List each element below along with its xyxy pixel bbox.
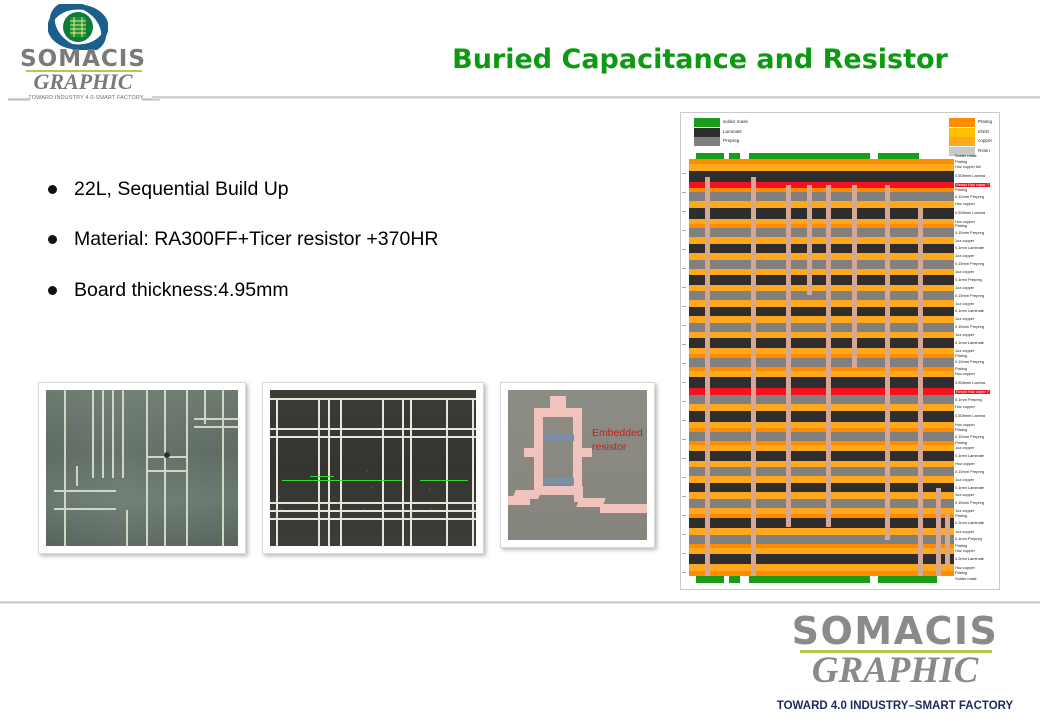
microsection-trace bbox=[402, 398, 404, 546]
ruler-tick bbox=[682, 287, 686, 288]
microsection-trace bbox=[164, 390, 166, 546]
stackup-layer-label: 0.15mm Prepreg bbox=[955, 501, 984, 505]
stackup-layer bbox=[689, 208, 954, 219]
stackup-layer bbox=[689, 244, 954, 253]
microsection-b-canvas: ········· bbox=[270, 390, 476, 546]
stackup-via bbox=[852, 185, 857, 368]
stackup-layer bbox=[689, 445, 954, 451]
stackup-layer-label: Plating bbox=[955, 354, 967, 358]
stackup-layer-label: 1oz copper bbox=[955, 493, 974, 497]
stackup-layer bbox=[689, 411, 954, 422]
microsection-trace bbox=[146, 470, 188, 472]
ruler-tick bbox=[682, 477, 686, 478]
bullet-text: Material: RA300FF+Ticer resistor +370HR bbox=[74, 228, 438, 250]
stackup-layer bbox=[689, 395, 954, 404]
stackup-layer-label: 1oz copper bbox=[955, 317, 974, 321]
stackup-via bbox=[751, 177, 756, 577]
stackup-layer-label: 0.15mm Prepreg bbox=[955, 294, 984, 298]
stackup-layer bbox=[689, 499, 954, 508]
bullet-dot-icon bbox=[48, 185, 57, 194]
footer-tagline: TOWARD 4.0 INDUSTRY–SMART FACTORY bbox=[770, 700, 1020, 712]
microsection-trace bbox=[186, 390, 188, 546]
stackup-layer bbox=[689, 171, 954, 182]
stackup-layer bbox=[689, 554, 954, 564]
measurement-annotation: · bbox=[430, 506, 434, 513]
bullet-text: 22L, Sequential Build Up bbox=[74, 178, 289, 200]
legend-label: solder mask bbox=[723, 120, 748, 125]
stackup-layer bbox=[689, 164, 954, 170]
stackup-layer-label: Hoz copper bbox=[955, 405, 975, 409]
stackup-layer-label: 1oz copper bbox=[955, 286, 974, 290]
microsection-trace bbox=[64, 390, 66, 546]
stackup-layer bbox=[689, 548, 954, 554]
stackup-layer bbox=[749, 576, 870, 583]
stackup-layer bbox=[689, 483, 954, 492]
microsection-via-dot bbox=[164, 452, 170, 458]
stackup-via bbox=[918, 205, 923, 577]
ruler-tick bbox=[682, 211, 686, 212]
stackup-layer-label: Plating bbox=[955, 571, 967, 575]
stackup-layer-label: Solder mask bbox=[955, 154, 977, 158]
measurement-annotation: · bbox=[370, 484, 374, 491]
stackup-ruler bbox=[682, 153, 688, 583]
ruler-tick bbox=[682, 572, 686, 573]
microsection-trace bbox=[446, 398, 448, 546]
stackup-layer-label: 0.1mm Laminate bbox=[955, 486, 984, 490]
stackup-layer-label: 0.1mm Prepreg bbox=[955, 398, 982, 402]
measurement-annotation: · bbox=[278, 494, 282, 501]
measurement-line bbox=[420, 480, 468, 481]
stackup-layer bbox=[689, 192, 954, 201]
measurement-line bbox=[282, 480, 402, 481]
stackup-layer-label: 1oz copper bbox=[955, 270, 974, 274]
stackup-layer bbox=[689, 377, 954, 388]
legend-item: Prepreg bbox=[694, 137, 748, 147]
stackup-layer-label: 1oz copper bbox=[955, 446, 974, 450]
stackup-layer-label: Plating bbox=[955, 428, 967, 432]
microsection-trace bbox=[102, 390, 104, 478]
stackup-layer-label: Hoz copper bbox=[955, 372, 975, 376]
bullet-list: 22L, Sequential Build Up Material: RA300… bbox=[48, 178, 608, 329]
stackup-layer-label: 1oz copper bbox=[955, 302, 974, 306]
legend-item: ENIG bbox=[949, 128, 992, 138]
stackup-layer-label: 0.15mm Prepreg bbox=[955, 262, 984, 266]
stackup-legend-left: solder maskLaminatePrepreg bbox=[694, 118, 748, 147]
stackup-layer bbox=[689, 307, 954, 316]
ruler-tick bbox=[682, 401, 686, 402]
microsection-trace bbox=[340, 398, 342, 546]
legend-label: Plating bbox=[978, 120, 992, 125]
microsection-copper-traces-image bbox=[38, 382, 246, 554]
pcb-stackup-diagram: solder maskLaminatePrepreg PlatingENIGco… bbox=[680, 112, 1000, 590]
stackup-layer bbox=[689, 260, 954, 269]
footer-brand-somacis: SOMACIS bbox=[770, 612, 1020, 650]
stackup-layer bbox=[689, 285, 954, 291]
stackup-layer-label: 1oz copper bbox=[955, 478, 974, 482]
logo-brand-somacis: SOMACIS bbox=[8, 48, 158, 71]
stackup-layer-label: 0.15mm Prepreg bbox=[955, 325, 984, 329]
stackup-layer-label: 0.15mm Prepreg bbox=[955, 231, 984, 235]
stackup-layer bbox=[689, 371, 954, 377]
stackup-layer-label: 0.1mm Laminate bbox=[955, 341, 984, 345]
ruler-tick bbox=[682, 363, 686, 364]
stackup-layer bbox=[689, 404, 954, 410]
stackup-layer bbox=[689, 291, 954, 300]
ruler-tick bbox=[682, 173, 686, 174]
microsection-trace bbox=[122, 390, 124, 478]
legend-swatch bbox=[694, 137, 720, 146]
stackup-layer-label: 0.15mm Prepreg bbox=[955, 360, 984, 364]
microsection-trace bbox=[194, 426, 238, 428]
stackup-layer-label: Plating bbox=[955, 188, 967, 192]
stackup-layer-label: Hoz copper bbox=[955, 566, 975, 570]
stackup-layer bbox=[689, 535, 954, 544]
logo-tagline: TOWARD INDUSTRY 4.0-SMART FACTORY bbox=[22, 95, 150, 101]
stackup-layer-label: 0.1mm Laminate bbox=[955, 454, 984, 458]
stackup-via bbox=[786, 185, 791, 527]
stackup-layer-label: 0.508mm Lamina bbox=[955, 381, 985, 385]
measurement-annotation: · bbox=[362, 506, 366, 513]
legend-item: Laminate bbox=[694, 128, 748, 138]
microsection-trace bbox=[194, 418, 238, 420]
stackup-layer-label: 0.1mm Prepreg bbox=[955, 278, 982, 282]
microsection-trace bbox=[410, 398, 412, 546]
ruler-tick bbox=[682, 382, 686, 383]
somacis-globe-icon bbox=[48, 4, 108, 50]
list-item: Material: RA300FF+Ticer resistor +370HR bbox=[48, 228, 608, 250]
ruler-tick bbox=[682, 249, 686, 250]
ruler-tick bbox=[682, 458, 686, 459]
measurement-line bbox=[310, 476, 334, 477]
stackup-legend-right: PlatingENIGcopperResin bbox=[949, 118, 992, 156]
microsection-trace bbox=[92, 390, 94, 478]
list-item: Board thickness:4.95mm bbox=[48, 279, 608, 301]
stackup-layer-label: 0.1mm Prepreg bbox=[955, 537, 982, 541]
stackup-layers bbox=[689, 153, 954, 583]
stackup-layer-label: 0.12mm Prepreg bbox=[955, 195, 984, 199]
stackup-layer bbox=[689, 323, 954, 332]
stackup-layer-label: 0.508mm Lamina bbox=[955, 211, 985, 215]
footer-logo: SOMACIS GRAPHIC TOWARD 4.0 INDUSTRY–SMAR… bbox=[770, 608, 1020, 708]
ruler-tick bbox=[682, 306, 686, 307]
stackup-via bbox=[945, 514, 950, 566]
stackup-layer-label: 1oz copper bbox=[955, 530, 974, 534]
stackup-layer bbox=[689, 228, 954, 237]
list-item: 22L, Sequential Build Up bbox=[48, 178, 608, 200]
ruler-tick bbox=[682, 268, 686, 269]
stackup-layer-label: Plating bbox=[955, 160, 967, 164]
legend-label: ENIG bbox=[978, 130, 989, 135]
legend-swatch bbox=[949, 128, 975, 137]
legend-swatch bbox=[694, 118, 720, 127]
microsection-trace bbox=[276, 398, 278, 546]
stackup-layer bbox=[689, 451, 954, 460]
stackup-via bbox=[807, 185, 812, 295]
stackup-layer bbox=[729, 576, 741, 583]
stackup-layer-label: Hoz copper foil bbox=[955, 165, 981, 169]
microsection-trace bbox=[126, 510, 128, 546]
stackup-layer-label: Resist Hoz coper ? bbox=[955, 390, 990, 394]
legend-swatch bbox=[949, 118, 975, 127]
legend-item: Plating bbox=[949, 118, 992, 128]
ruler-tick bbox=[682, 534, 686, 535]
stackup-layer-label: Solder mask bbox=[955, 577, 977, 581]
stackup-layer bbox=[689, 338, 954, 347]
stackup-via bbox=[705, 177, 710, 577]
measurement-annotation: · bbox=[280, 506, 284, 513]
microsection-trace bbox=[318, 398, 320, 546]
stackup-layer-label: 0.508mm Lamina bbox=[955, 174, 985, 178]
stackup-layer-label: 0.1mm Laminate bbox=[955, 246, 984, 250]
embedded-resistor-label: Embedded resistor bbox=[592, 426, 643, 454]
stackup-layer bbox=[689, 518, 954, 528]
stackup-layer-label: 0.15mm Prepreg bbox=[955, 470, 984, 474]
stackup-layer bbox=[689, 467, 954, 476]
header-divider bbox=[152, 96, 1040, 99]
embedded-resistor-image: Embedded resistor bbox=[500, 382, 655, 548]
stackup-layer-label: 0.508mm Lamina bbox=[955, 414, 985, 418]
stackup-layer bbox=[689, 275, 954, 284]
stackup-layer-label: 0.1mm Laminate bbox=[955, 309, 984, 313]
stackup-layer-label: 1oz copper bbox=[955, 333, 974, 337]
stackup-layer bbox=[878, 576, 938, 583]
ruler-tick bbox=[682, 420, 686, 421]
stackup-layer-label: Hoz copper bbox=[955, 202, 975, 206]
microsection-trace bbox=[54, 490, 116, 492]
legend-label: Laminate bbox=[723, 130, 742, 135]
stackup-via bbox=[885, 185, 890, 540]
header-logo: SOMACIS GRAPHIC TOWARD INDUSTRY 4.0-SMAR… bbox=[8, 2, 158, 102]
ruler-tick bbox=[682, 344, 686, 345]
legend-item: solder mask bbox=[694, 118, 748, 128]
ruler-tick bbox=[682, 496, 686, 497]
stackup-layer-label: Hoz copper bbox=[955, 462, 975, 466]
microsection-trace bbox=[54, 508, 116, 510]
legend-label: Prepreg bbox=[723, 139, 739, 144]
footer-divider bbox=[0, 601, 1040, 604]
microsection-measurements-image: ········· bbox=[262, 382, 484, 554]
microsection-a-canvas bbox=[46, 390, 238, 546]
stackup-layer bbox=[689, 461, 954, 467]
ruler-tick bbox=[682, 515, 686, 516]
stackup-layer bbox=[696, 576, 724, 583]
ruler-tick bbox=[682, 192, 686, 193]
legend-swatch bbox=[694, 128, 720, 137]
stackup-layer-label: 0.15mm Prepreg bbox=[955, 435, 984, 439]
embedded-resistor-canvas: Embedded resistor bbox=[508, 390, 647, 540]
microsection-trace bbox=[76, 466, 78, 486]
ruler-tick bbox=[682, 553, 686, 554]
ruler-tick bbox=[682, 230, 686, 231]
logo-brand-graphic: GRAPHIC bbox=[8, 71, 158, 93]
bullet-dot-icon bbox=[48, 235, 57, 244]
microsection-trace bbox=[222, 390, 224, 546]
measurement-annotation: · bbox=[428, 486, 432, 493]
measurement-annotation: · bbox=[336, 500, 340, 507]
stackup-layer-label: Plating bbox=[955, 514, 967, 518]
legend-swatch bbox=[949, 137, 975, 146]
ruler-tick bbox=[682, 325, 686, 326]
page-title: Buried Capacitance and Resistor bbox=[380, 44, 1020, 75]
stackup-layer bbox=[689, 182, 954, 188]
bullet-dot-icon bbox=[48, 286, 57, 295]
legend-item: copper bbox=[949, 137, 992, 147]
stackup-layer-label: Plating bbox=[955, 224, 967, 228]
stackup-layer-label: 1oz copper bbox=[955, 254, 974, 258]
stackup-layer-labels: Solder maskPlatingHoz copper foil0.508mm… bbox=[955, 153, 1000, 583]
microsection-trace bbox=[112, 390, 114, 478]
microsection-trace bbox=[472, 398, 474, 546]
microsection-trace bbox=[382, 398, 384, 546]
microsection-trace bbox=[146, 390, 148, 546]
bullet-text: Board thickness:4.95mm bbox=[74, 279, 289, 301]
footer-brand-graphic: GRAPHIC bbox=[770, 652, 1020, 689]
legend-label: copper bbox=[978, 139, 992, 144]
stackup-layer-label: Hoz copper bbox=[955, 549, 975, 553]
stackup-layer bbox=[689, 432, 954, 441]
stackup-layer bbox=[689, 269, 954, 275]
stackup-via bbox=[936, 488, 941, 576]
stackup-layer-label: 1oz copper bbox=[955, 239, 974, 243]
stackup-via bbox=[826, 185, 831, 527]
stackup-layer-label: 0.2mm Laminate bbox=[955, 521, 984, 525]
stackup-layer bbox=[689, 358, 954, 367]
measurement-annotation: · bbox=[366, 468, 370, 475]
microsection-trace bbox=[328, 398, 330, 546]
ruler-tick bbox=[682, 439, 686, 440]
stackup-layer-label: 0.2mm Laminate bbox=[955, 557, 984, 561]
